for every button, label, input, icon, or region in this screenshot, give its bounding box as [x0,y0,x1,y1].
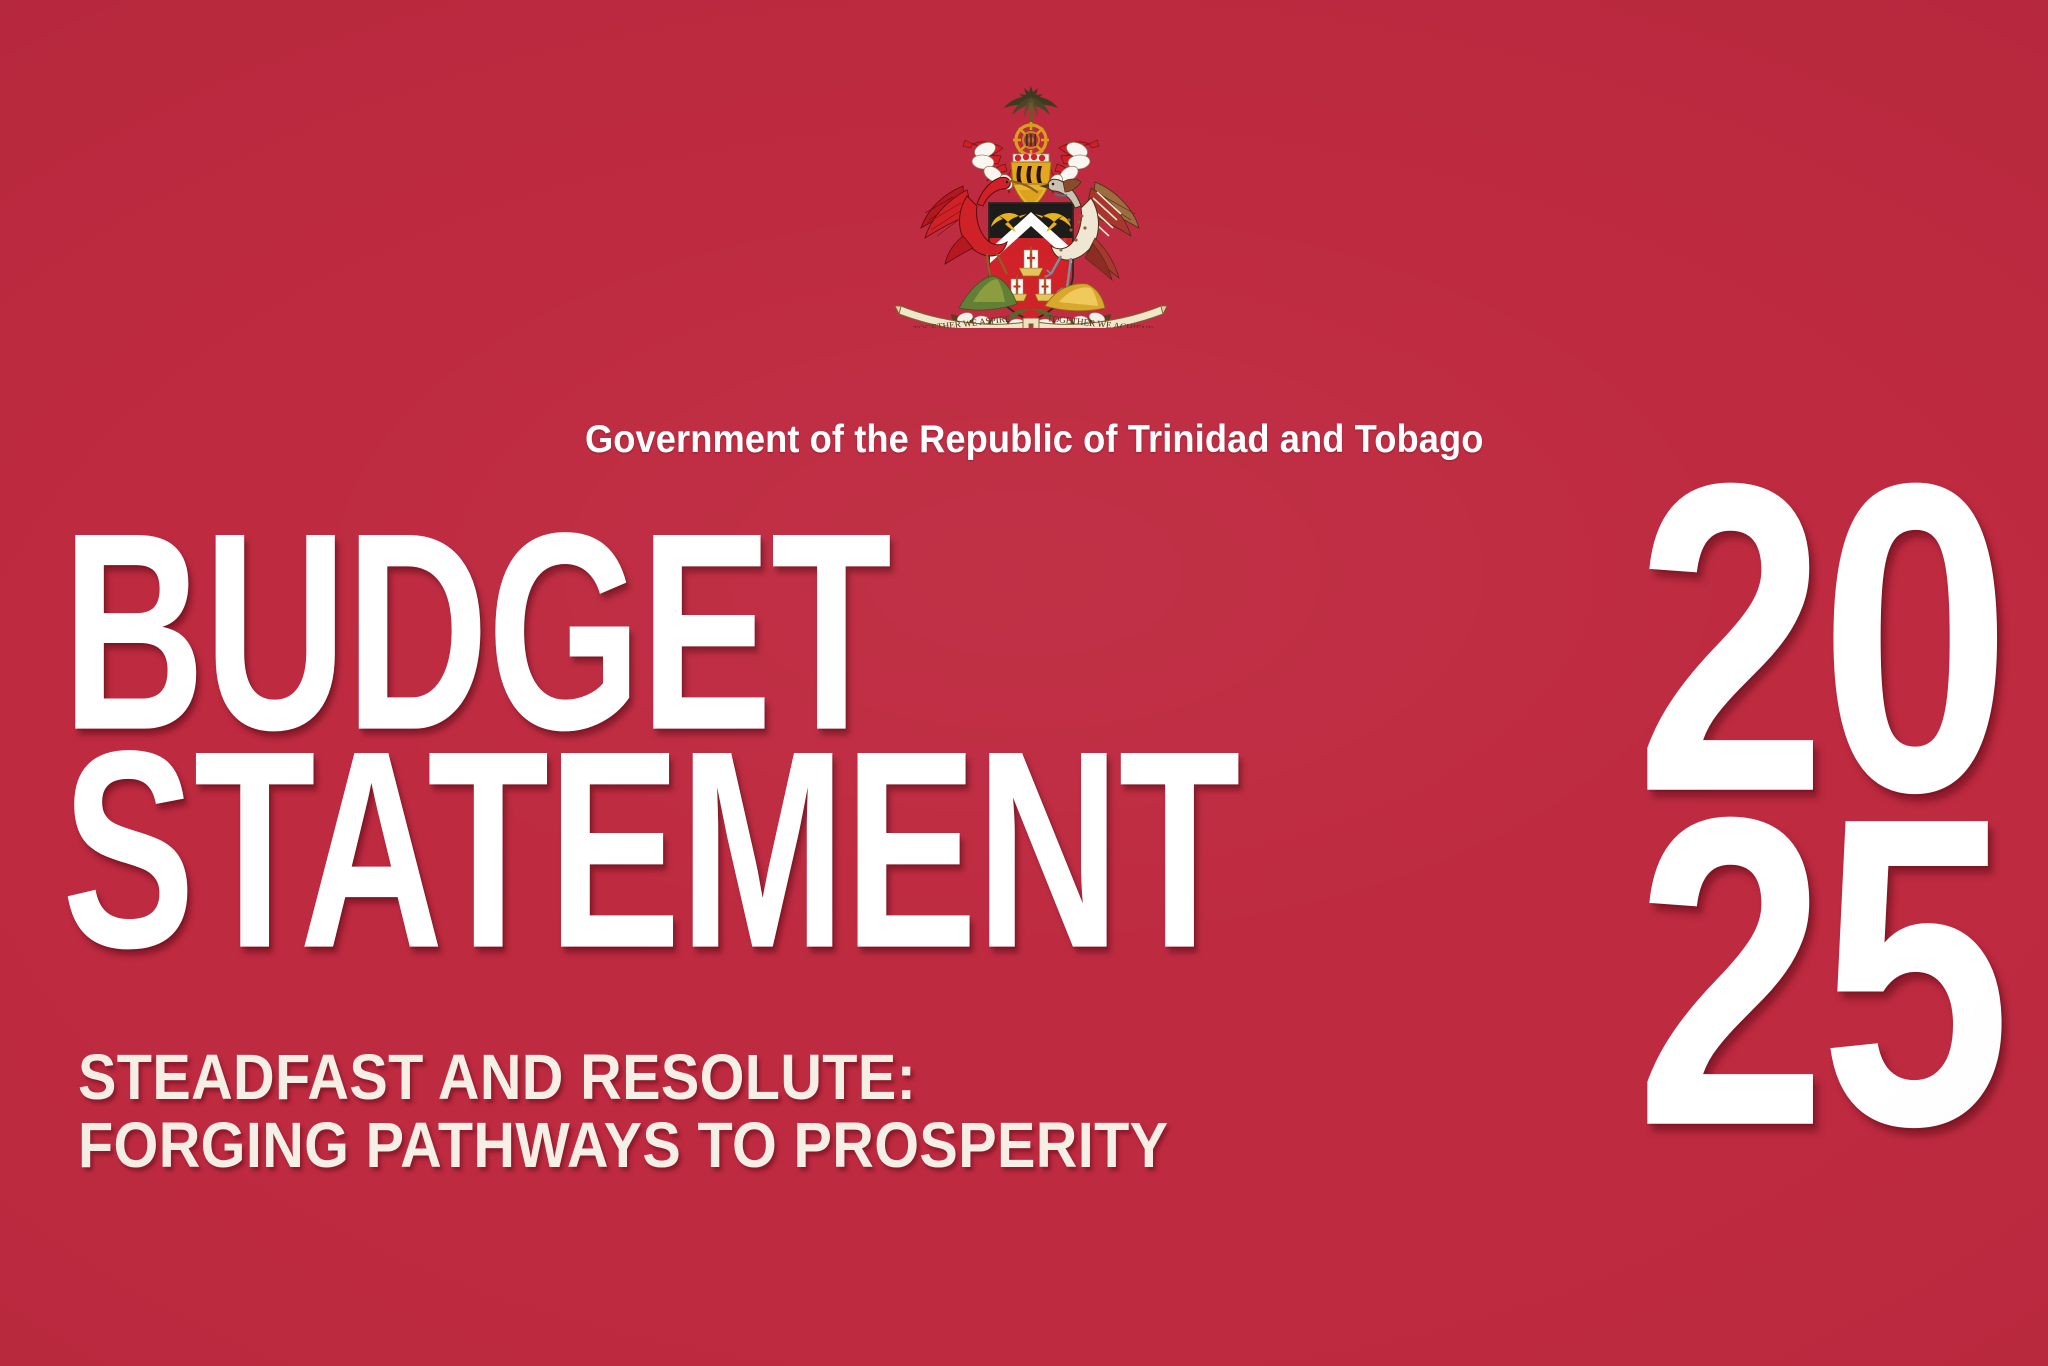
year-block: 20 25 [1606,482,2026,1128]
coat-of-arms-icon: TOGETHER WE ASPIRE TOGETHER WE ACHIEVE [881,78,1181,328]
crown-icon [1011,154,1051,205]
ships-wheel-icon [1013,122,1049,158]
subtitle-line-1: STEADFAST AND RESOLUTE: [78,1044,1293,1112]
year-bottom-half: 25 [1635,800,1996,1143]
subtitle: STEADFAST AND RESOLUTE: FORGING PATHWAYS… [78,1044,1293,1180]
coat-of-arms-container: TOGETHER WE ASPIRE TOGETHER WE ACHIEVE [0,78,2048,328]
page-title: BUDGET STATEMENT [62,524,1312,957]
subtitle-line-2: FORGING PATHWAYS TO PROSPERITY [78,1112,1293,1180]
budget-statement-cover: TOGETHER WE ASPIRE TOGETHER WE ACHIEVE G… [0,0,2048,1366]
title-line-statement: STATEMENT [62,737,993,962]
